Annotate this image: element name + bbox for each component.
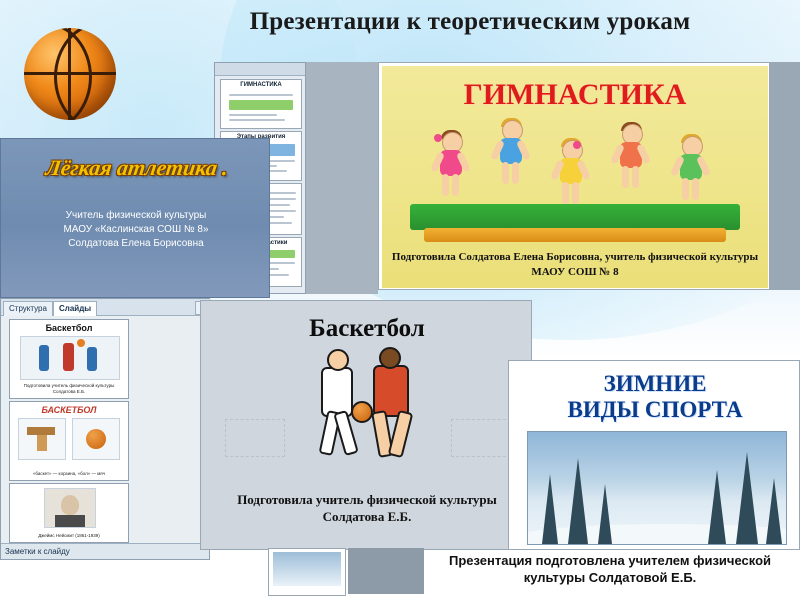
bottom-caption: Презентация подготовлена учителем физиче…: [430, 552, 790, 586]
basketball-icon: [24, 28, 116, 120]
thumbnail-slide-2-caption: «баскет» — корзина, «бол» — мяч: [14, 471, 124, 477]
gym-kid-3-bow: [573, 141, 581, 149]
basketball-seam-curve-right: [54, 28, 116, 120]
gym-kid-2-leg-left: [502, 162, 509, 184]
gym-kid-4-leg-left: [622, 166, 629, 188]
slide-basketball-placeholder-right: [451, 419, 511, 457]
thumbnail-slide-1-image: [20, 336, 120, 380]
thumbnail-slide-1-caption: Подготовила учитель физической культуры …: [14, 383, 124, 395]
bottom-thumbnail-image: [273, 552, 341, 586]
slide-gymnastics-canvas: ГИМНАСТИКА: [382, 66, 768, 288]
slide-gymnastics[interactable]: ГИМНАСТИКА: [378, 62, 770, 290]
slide-basketball-illustration: [311, 345, 441, 493]
gym-kid-1-leg-right: [452, 174, 459, 196]
slide-winter-photo: [527, 431, 787, 545]
slide-gymnastics-title: ГИМНАСТИКА: [382, 78, 768, 112]
strip-slide-1-line: [229, 94, 293, 96]
winter-tree-4: [708, 470, 726, 544]
slide-strip-header: [215, 63, 305, 76]
slide-basketball-title: Баскетбол: [201, 315, 532, 343]
slide-athletics-title: Лёгкая атлетика .: [25, 155, 249, 181]
thumbnail-slide-3-portrait: [44, 488, 96, 528]
strip-slide-1-band: [229, 100, 293, 110]
slide-athletics[interactable]: Лёгкая атлетика . Учитель физической кул…: [0, 138, 270, 298]
thumbnail-slide-3[interactable]: Джеймс Нейсмит (1861-1939): [9, 483, 129, 543]
strip-slide-1-line-3: [229, 119, 285, 121]
thumbnail-slide-1-title: Баскетбол: [10, 323, 128, 333]
notes-pane-label[interactable]: Заметки к слайду: [1, 543, 209, 559]
gym-bench-graphic: [410, 204, 740, 230]
slide-basketball[interactable]: Баскетбол Подготовила учитель физической…: [200, 300, 532, 550]
gym-mat-graphic: [424, 228, 726, 242]
winter-tree-1: [542, 474, 558, 544]
slide-athletics-subtitle: Учитель физической культуры МАОУ «Каслин…: [11, 209, 261, 251]
strip-slide-1-line-2: [229, 114, 277, 116]
slide-winter-sports-title: ЗИМНИЕ ВИДЫ СПОРТА: [509, 371, 800, 423]
winter-tree-2: [568, 458, 588, 544]
bottom-gray-panel: [348, 548, 424, 594]
gym-kid-3-leg-left: [562, 182, 569, 204]
winter-tree-6: [766, 478, 782, 544]
slide-gymnastics-caption: Подготовила Солдатова Елена Борисовна, у…: [390, 250, 760, 280]
gym-kid-5-leg-right: [692, 178, 699, 200]
gym-kid-1-leg-left: [442, 174, 449, 196]
winter-tree-5: [736, 452, 758, 544]
strip-slide-1[interactable]: ГИМНАСТИКА: [220, 79, 302, 129]
strip-slide-1-title: ГИМНАСТИКА: [221, 82, 301, 88]
winter-tree-3: [598, 484, 612, 544]
thumbnail-slide-2-image-right: [72, 418, 120, 460]
thumbnail-slide-2[interactable]: БАСКЕТБОЛ «баскет» — корзина, «бол» — мя…: [9, 401, 129, 481]
slide-basketball-placeholder-left: [225, 419, 285, 457]
slide-basketball-caption: Подготовила учитель физической культуры …: [213, 491, 521, 525]
slide-panel-gray-center: [306, 62, 378, 294]
thumbnail-slide-1[interactable]: Баскетбол Подготовила учитель физической…: [9, 319, 129, 399]
page-title: Презентации к теоретическим урокам: [150, 8, 790, 36]
gym-kid-5-leg-left: [682, 178, 689, 200]
gym-kid-3-leg-right: [572, 182, 579, 204]
slide-panel-gray-right: [770, 62, 800, 290]
gym-kid-4-leg-right: [632, 166, 639, 188]
gym-kid-2-leg-right: [512, 162, 519, 184]
thumbnail-slide-2-title: БАСКЕТБОЛ: [10, 405, 128, 415]
powerpoint-slide-panel[interactable]: Структура Слайды × Баскетбол Подготовила…: [0, 298, 210, 560]
tab-slides[interactable]: Слайды: [53, 301, 97, 316]
gym-kid-1-bow: [434, 134, 442, 142]
slide-panel-tabs: Структура Слайды ×: [1, 299, 211, 316]
slide-winter-title-line-1: ЗИМНИЕ: [509, 371, 800, 397]
tab-outline[interactable]: Структура: [3, 301, 53, 316]
slide-winter-title-line-2: ВИДЫ СПОРТА: [509, 397, 800, 423]
thumbnail-slide-3-caption: Джеймс Нейсмит (1861-1939): [14, 533, 124, 539]
slide-winter-sports[interactable]: ЗИМНИЕ ВИДЫ СПОРТА: [508, 360, 800, 550]
bottom-thumbnail[interactable]: [268, 548, 346, 596]
thumbnail-slide-2-image-left: [18, 418, 66, 460]
